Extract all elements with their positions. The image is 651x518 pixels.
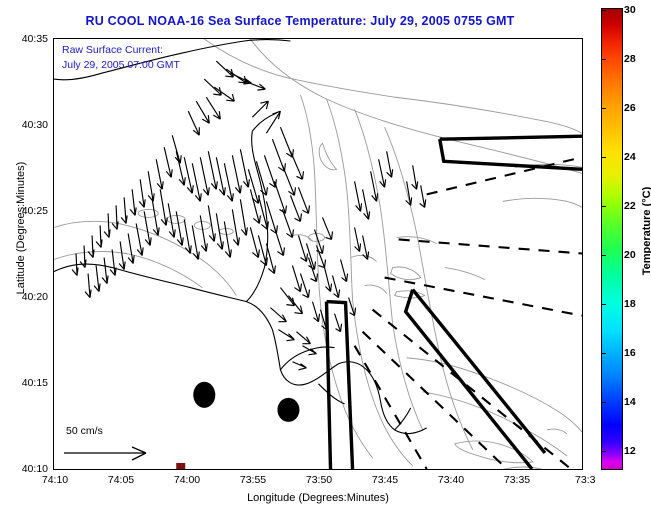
coastline: [54, 40, 427, 434]
x-tick-label: 73:35: [504, 474, 530, 486]
x-tick-label: 73:45: [372, 474, 398, 486]
scale-legend-label: 50 cm/s: [66, 425, 103, 437]
velocity-scale-legend: 50 cm/s: [62, 425, 172, 463]
x-tick-label: 73:40: [438, 474, 464, 486]
x-axis-title: Longitude (Degrees:Minutes): [53, 492, 583, 504]
colorbar-tick-label: 20: [624, 249, 636, 261]
bathymetry-contours: [54, 39, 582, 469]
red-axis-marker: [176, 463, 185, 469]
figure-title: RU COOL NOAA-16 Sea Surface Temperature:…: [0, 14, 600, 28]
colorbar-tick-label: 18: [624, 298, 636, 310]
station-marker-1: [193, 382, 215, 408]
x-tick-label: 74:05: [108, 474, 134, 486]
surface-current-vectors: [72, 61, 426, 370]
colorbar-tick-label: 22: [624, 200, 636, 212]
station-markers: [193, 382, 299, 422]
x-axis-ticks: 74:10 74:05 74:00 73:55 73:50 73:45 73:4…: [53, 474, 583, 490]
colorbar-tick-label: 26: [624, 102, 636, 114]
map-plot-area: Raw Surface Current: July 29, 2005 07:00…: [53, 38, 583, 470]
annotation-line-2: July 29, 2005 07:00 GMT: [62, 58, 180, 73]
colorbar-tick-label: 28: [624, 53, 636, 65]
x-tick-label: 74:00: [174, 474, 200, 486]
colorbar-tick-label: 16: [624, 347, 636, 359]
station-marker-2: [277, 398, 299, 422]
raw-current-annotation: Raw Surface Current: July 29, 2005 07:00…: [62, 43, 180, 73]
scale-arrow-icon: [62, 442, 172, 464]
colorbar-title: Temperature (°C): [641, 151, 651, 311]
colorbar-tick-label: 14: [624, 396, 636, 408]
x-tick-label: 73:3: [575, 474, 595, 486]
radial-dashed-boundaries: [355, 157, 582, 469]
y-tick-label: 40:35: [22, 33, 48, 45]
x-tick-label: 73:55: [240, 474, 266, 486]
x-tick-label: 74:10: [42, 474, 68, 486]
y-axis-title: Latitude (Degrees:Minutes): [15, 113, 27, 343]
sst-map-figure: RU COOL NOAA-16 Sea Surface Temperature:…: [0, 0, 651, 518]
x-tick-label: 73:50: [306, 474, 332, 486]
colorbar-tick-label: 30: [624, 4, 636, 16]
y-tick-label: 40:15: [22, 377, 48, 389]
colorbar-tick-label: 12: [624, 445, 636, 457]
annotation-line-1: Raw Surface Current:: [62, 43, 180, 58]
map-canvas: [54, 39, 582, 469]
colorbar-tick-label: 24: [624, 151, 636, 163]
